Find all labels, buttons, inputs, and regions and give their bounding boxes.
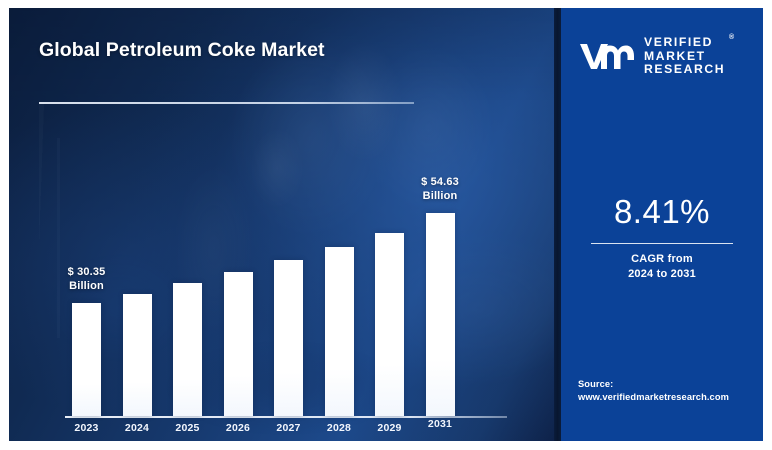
value-callout-2023: $ 30.35Billion xyxy=(41,265,133,293)
x-tick-label-2024: 2024 xyxy=(113,422,161,434)
x-tick-label-2029: 2029 xyxy=(366,422,414,434)
info-panel: VERIFIED MARKET RESEARCH ® 8.41% CAGR fr… xyxy=(561,8,763,441)
cagr-caption-line-2: 2024 to 2031 xyxy=(561,267,763,282)
source-url[interactable]: www.verifiedmarketresearch.com xyxy=(578,391,729,404)
x-tick-label-2025: 2025 xyxy=(164,422,212,434)
cagr-caption: CAGR from 2024 to 2031 xyxy=(561,252,763,281)
x-tick-label-2026: 2026 xyxy=(214,422,262,434)
panel-divider xyxy=(554,8,561,441)
value-callout-amount: $ 30.35 xyxy=(41,265,133,279)
x-tick-label-2028: 2028 xyxy=(315,422,363,434)
infographic-canvas: Global Petroleum Coke Market 20232024202… xyxy=(9,8,763,441)
x-tick-label-2031: 2031 xyxy=(416,418,464,430)
cagr-value: 8.41% xyxy=(561,193,763,231)
brand-line-market: MARKET xyxy=(644,50,725,64)
bar-2027[interactable] xyxy=(274,260,303,416)
bar-2026[interactable] xyxy=(224,272,253,416)
bar-2028[interactable] xyxy=(325,247,354,416)
value-callout-unit: Billion xyxy=(41,279,133,293)
cagr-caption-line-1: CAGR from xyxy=(561,252,763,267)
infographic-root: Global Petroleum Coke Market 20232024202… xyxy=(0,0,772,450)
vmr-monogram-icon xyxy=(579,41,635,71)
brand-line-verified: VERIFIED xyxy=(644,36,725,50)
registered-trademark-icon: ® xyxy=(729,31,734,45)
brand-logo[interactable]: VERIFIED MARKET RESEARCH ® xyxy=(579,36,725,77)
brand-wordmark: VERIFIED MARKET RESEARCH ® xyxy=(644,36,725,77)
bar-chart: 20232024202520262027202820292031$ 30.35B… xyxy=(9,8,554,441)
source-label: Source: xyxy=(578,378,729,391)
chart-panel: Global Petroleum Coke Market 20232024202… xyxy=(9,8,554,441)
bar-2023[interactable] xyxy=(72,303,101,416)
value-callout-2031: $ 54.63Billion xyxy=(394,175,486,203)
bar-2024[interactable] xyxy=(123,294,152,416)
bar-2025[interactable] xyxy=(173,283,202,416)
bar-2029[interactable] xyxy=(375,233,404,416)
cagr-divider xyxy=(591,243,733,244)
value-callout-amount: $ 54.63 xyxy=(394,175,486,189)
x-tick-label-2027: 2027 xyxy=(265,422,313,434)
source-attribution: Source: www.verifiedmarketresearch.com xyxy=(578,378,729,403)
bar-2031[interactable] xyxy=(426,213,455,416)
brand-line-research: RESEARCH xyxy=(644,63,725,77)
value-callout-unit: Billion xyxy=(394,189,486,203)
x-tick-label-2023: 2023 xyxy=(63,422,111,434)
